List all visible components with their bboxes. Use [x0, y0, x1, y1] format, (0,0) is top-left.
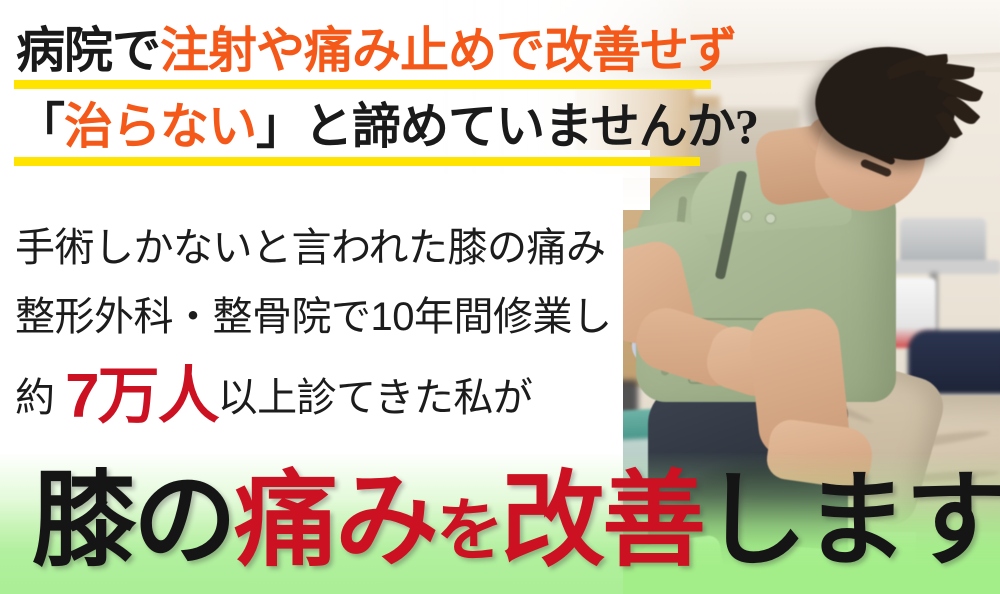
body-copy-patient-count: 7万人: [65, 362, 217, 431]
body-copy-line-1: 手術しかないと言われた膝の痛み: [15, 228, 606, 268]
therapist-hair-spikes: [886, 56, 978, 136]
headline-line-1: 病院で注射や痛み止めで改善せず: [16, 26, 736, 75]
body-copy-line3-prefix: 約: [15, 376, 65, 420]
equipment-monitor: [900, 218, 986, 266]
bottom-headline-part1: 膝の: [32, 464, 234, 579]
headline-line2-accent: 治らない: [64, 99, 256, 154]
bottom-headline-part2: 痛み: [234, 464, 436, 579]
headline-line1-prefix: 病院で: [16, 23, 160, 78]
yellow-underline-bar-1: [14, 80, 711, 89]
body-copy-line3-suffix: 以上診てきた私が: [218, 376, 533, 420]
body-copy-line-3: 約 7万人以上診てきた私が: [15, 366, 532, 428]
scrub-snap: [742, 212, 751, 221]
bottom-headline: 膝の痛みを改善します！: [32, 470, 1000, 574]
headline-line2-close-bracket: 」: [256, 99, 304, 154]
headline-line-2: 「治らない」と諦めていませんか?: [16, 102, 758, 151]
scrub-snap: [766, 214, 775, 223]
headline-line2-open-bracket: 「: [16, 99, 64, 154]
bottom-headline-part4: 改善: [501, 464, 703, 579]
yellow-underline-bar-2: [14, 157, 700, 166]
bottom-headline-part5: します: [703, 464, 1000, 579]
bottom-headline-part3: を: [436, 493, 501, 569]
headline-line1-accent: 注射や痛み止めで改善せず: [160, 23, 736, 78]
body-copy-line-2: 整形外科・整骨院で10年間修業し: [15, 297, 612, 337]
headline-line2-suffix: と諦めていませんか?: [304, 99, 758, 154]
promo-banner: 病院で注射や痛み止めで改善せず 「治らない」と諦めていませんか? 手術しかないと…: [0, 0, 1000, 594]
